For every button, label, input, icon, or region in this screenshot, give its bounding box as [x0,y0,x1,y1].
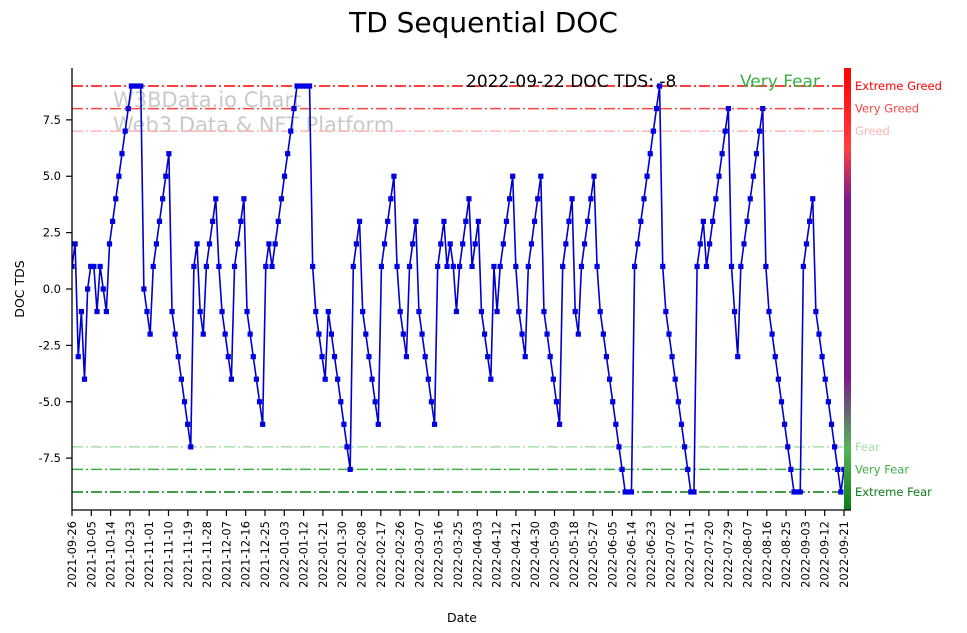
series-point [479,309,484,314]
series-point [838,489,843,494]
series-point [388,196,393,201]
series-point [363,332,368,337]
series-point [601,332,606,337]
watermark: W3BData.io Chart Web3 Data & NFT Platfor… [113,88,394,137]
series-point [476,219,481,224]
series-point [691,489,696,494]
series-point [804,241,809,246]
series-point [704,264,709,269]
series-point [441,219,446,224]
series-point [485,354,490,359]
series-point [829,422,834,427]
x-tick-label: 2022-03-07 [412,521,426,588]
series-point [748,196,753,201]
series-point [482,332,487,337]
series-point [251,354,256,359]
series-point [376,422,381,427]
series-point [238,219,243,224]
series-point [523,354,528,359]
series-point [707,241,712,246]
x-tick-label: 2022-07-20 [702,521,716,588]
series-point [469,264,474,269]
x-tick-label: 2022-05-27 [586,521,600,588]
x-tick-label: 2022-02-26 [393,521,407,588]
series-point [760,106,765,111]
x-tick-label: 2022-07-11 [683,521,697,588]
series-point [726,106,731,111]
series-point [526,264,531,269]
series-line [72,86,844,492]
series-point [563,241,568,246]
series-point [313,309,318,314]
series-point [116,174,121,179]
series-point [660,264,665,269]
series-point [157,219,162,224]
series-point [79,309,84,314]
series-point [101,286,106,291]
x-axis-ticks: 2021-09-262021-10-052021-10-142021-10-23… [65,510,851,588]
series-point [332,354,337,359]
y-tick-label: 2.5 [43,226,61,240]
series-point [648,151,653,156]
series-point [435,264,440,269]
series-point [98,264,103,269]
series-point [782,422,787,427]
x-tick-label: 2021-12-07 [219,521,233,588]
series-point [716,174,721,179]
y-tick-label: -7.5 [39,451,61,465]
series-point [823,377,828,382]
series-point [513,264,518,269]
series-point [607,377,612,382]
x-tick-label: 2022-03-16 [432,521,446,588]
series-point [585,219,590,224]
series-point [613,422,618,427]
threshold-label-very-greed: Very Greed [855,102,919,116]
series-point [569,196,574,201]
series-point [329,332,334,337]
series-point [466,196,471,201]
series-point [757,129,762,134]
series-point [494,309,499,314]
series-point [257,399,262,404]
series-point [288,129,293,134]
series-point [735,354,740,359]
series-point [94,309,99,314]
series-point [123,129,128,134]
td-sequential-chart: TD Sequential DOC W3BData.io Chart Web3 … [0,0,967,633]
threshold-label-fear: Fear [855,440,880,454]
series-point [532,219,537,224]
series-point [398,309,403,314]
series-point [682,444,687,449]
x-tick-label: 2022-05-18 [567,521,581,588]
x-tick-label: 2022-09-03 [798,521,812,588]
series-point [91,264,96,269]
threshold-label-extreme-fear: Extreme Fear [855,485,932,499]
x-tick-label: 2021-09-26 [65,521,79,588]
series-point [554,399,559,404]
series-point [201,332,206,337]
x-tick-label: 2022-06-14 [625,521,639,588]
series-point [360,309,365,314]
series-point [770,332,775,337]
annotation-mood: Very Fear [740,72,820,92]
series-point [541,309,546,314]
series-point [773,354,778,359]
x-tick-label: 2022-05-09 [548,521,562,588]
series-point [410,241,415,246]
series-point [241,196,246,201]
sentiment-spine [844,68,851,510]
y-tick-label: -5.0 [39,395,61,409]
series-point [85,286,90,291]
series-point [148,332,153,337]
series-point [219,309,224,314]
series-point [560,264,565,269]
x-tick-label: 2021-12-25 [258,521,272,588]
x-tick-label: 2022-07-29 [721,521,735,588]
x-tick-label: 2022-04-30 [528,521,542,588]
series-point [644,174,649,179]
x-tick-label: 2022-02-08 [355,521,369,588]
series-point [776,377,781,382]
x-tick-label: 2022-04-12 [490,521,504,588]
series-point [401,332,406,337]
series-point [519,332,524,337]
threshold-label-very-fear: Very Fear [855,462,909,476]
series-point [591,174,596,179]
series-point [798,489,803,494]
series-point [538,174,543,179]
series-point [373,399,378,404]
series-point [419,332,424,337]
series-point [801,264,806,269]
series-point [498,264,503,269]
series-point [666,332,671,337]
series-point [701,219,706,224]
series-point [504,219,509,224]
x-tick-label: 2022-06-05 [605,521,619,588]
x-tick-label: 2022-02-17 [374,521,388,588]
series-point [457,264,462,269]
y-tick-label: 0.0 [43,282,61,296]
series-point [163,174,168,179]
series-point [551,377,556,382]
series-point [695,264,700,269]
x-tick-label: 2022-03-25 [451,521,465,588]
x-tick-label: 2021-11-28 [200,521,214,588]
series-point [282,174,287,179]
series-point [582,241,587,246]
series-point [369,377,374,382]
watermark-line-2: Web3 Data & NFT Platform [113,113,394,137]
series-point [810,196,815,201]
series-point [244,309,249,314]
series-point [357,219,362,224]
series-point [351,264,356,269]
series-point [413,219,418,224]
series-point [738,264,743,269]
series-point [279,196,284,201]
x-tick-label: 2022-01-21 [316,521,330,588]
series-point [188,444,193,449]
series-point [635,241,640,246]
series-point [154,241,159,246]
series-point [248,332,253,337]
series-point [616,444,621,449]
series-point [235,241,240,246]
series-point [813,309,818,314]
x-tick-label: 2022-01-03 [277,521,291,588]
series-point [260,422,265,427]
series-point [763,264,768,269]
series-point [594,264,599,269]
x-tick-label: 2021-11-19 [181,521,195,588]
series-point [473,241,478,246]
series-point [229,377,234,382]
series-point [516,309,521,314]
series-point [566,219,571,224]
series-point [307,83,312,88]
x-tick-label: 2022-08-16 [760,521,774,588]
series-point [535,196,540,201]
series-point [348,467,353,472]
series-point [576,332,581,337]
plot-area: W3BData.io Chart Web3 Data & NFT Platfor… [0,0,967,633]
series-point [323,377,328,382]
series-point [663,309,668,314]
x-tick-label: 2022-04-03 [470,521,484,588]
series-point [557,422,562,427]
x-axis-label: Date [447,610,477,625]
y-tick-label: 5.0 [43,169,61,183]
series-point [820,354,825,359]
series-point [169,309,174,314]
series-point [588,196,593,201]
x-tick-label: 2022-01-30 [335,521,349,588]
series-point [207,241,212,246]
series-point [182,399,187,404]
series-point [185,422,190,427]
series-point [510,174,515,179]
series-point [273,241,278,246]
series-point [454,309,459,314]
series-point [444,264,449,269]
series-point [276,219,281,224]
series-point [379,264,384,269]
x-tick-label: 2022-08-25 [779,521,793,588]
series-point [723,129,728,134]
series-point [194,241,199,246]
series-point [144,309,149,314]
series-point [82,377,87,382]
x-tick-label: 2021-12-16 [239,521,253,588]
x-tick-label: 2022-04-21 [509,521,523,588]
series-point [488,377,493,382]
series-point [104,309,109,314]
series-point [263,264,268,269]
series-point [698,241,703,246]
series-point [751,174,756,179]
threshold-labels: Extreme GreedVery GreedGreedFearVery Fea… [855,79,942,499]
series-point [310,264,315,269]
series-point [226,354,231,359]
series-point [138,83,143,88]
series-point [179,377,184,382]
series-point [641,196,646,201]
series-point [291,106,296,111]
series-point [651,129,656,134]
series-point [76,354,81,359]
series-point [344,444,349,449]
series-point [807,219,812,224]
series-point [460,241,465,246]
x-tick-label: 2022-06-23 [644,521,658,588]
series-point [391,174,396,179]
x-tick-label: 2021-11-10 [162,521,176,588]
series-point [544,332,549,337]
series-point [741,241,746,246]
series-point [176,354,181,359]
x-tick-label: 2021-10-14 [104,521,118,588]
series-point [198,309,203,314]
series-point [451,264,456,269]
series-point [394,264,399,269]
series-point [629,489,634,494]
series-point [654,106,659,111]
series-point [429,399,434,404]
series-point [119,151,124,156]
y-tick-label: 7.5 [43,113,61,127]
series-point [254,377,259,382]
series-point [754,151,759,156]
series-point [335,377,340,382]
series-point [632,264,637,269]
series-point [166,151,171,156]
series-point [598,309,603,314]
y-axis-ticks: -7.5-5.0-2.50.02.55.07.5 [39,113,72,465]
series-point [507,196,512,201]
x-tick-label: 2021-11-01 [142,521,156,588]
annotation-text: 2022-09-22 DOC TDS: -8 [466,72,676,92]
series-point [779,399,784,404]
series-point [404,354,409,359]
series-point [210,219,215,224]
series-point [73,241,78,246]
series-point [366,354,371,359]
series-point [416,309,421,314]
series-point [266,241,271,246]
series-point [285,151,290,156]
y-axis-label: DOC TDS [12,260,27,317]
series-point [426,377,431,382]
series-point [438,241,443,246]
series-point [835,467,840,472]
series-point [710,219,715,224]
series-point [423,354,428,359]
series-point [126,106,131,111]
series-point [213,196,218,201]
y-tick-label: -2.5 [39,338,61,352]
series-point [679,422,684,427]
series-point [432,422,437,427]
series-point [729,264,734,269]
series-point [326,309,331,314]
x-tick-label: 2022-07-02 [663,521,677,588]
series-point [232,264,237,269]
series-point [788,467,793,472]
series-point [579,264,584,269]
series-point [204,264,209,269]
annotation: 2022-09-22 DOC TDS: -8 Very Fear [466,72,820,92]
series-point [673,377,678,382]
series-point [463,219,468,224]
series-point [670,354,675,359]
threshold-label-extreme-greed: Extreme Greed [855,79,942,93]
series-point [832,444,837,449]
x-tick-label: 2022-09-21 [837,521,851,588]
series-point [223,332,228,337]
series-point [341,422,346,427]
series-point [151,264,156,269]
series-point [638,219,643,224]
series-point [319,354,324,359]
series-point [610,399,615,404]
series-point [676,399,681,404]
series-point [816,332,821,337]
series-point [604,354,609,359]
series-point [216,264,221,269]
series-point [529,241,534,246]
series-point [173,332,178,337]
series-point [766,309,771,314]
series-point [448,241,453,246]
data-series-doc-tds [69,83,846,494]
x-tick-label: 2022-01-12 [297,521,311,588]
series-point [732,309,737,314]
series-point [501,241,506,246]
series-point [338,399,343,404]
series-point [191,264,196,269]
series-point [713,196,718,201]
series-point [619,467,624,472]
series-point [407,264,412,269]
series-point [382,241,387,246]
series-point [491,264,496,269]
x-tick-label: 2021-10-05 [84,521,98,588]
series-point [110,219,115,224]
series-point [354,241,359,246]
series-point [269,264,274,269]
series-point [113,196,118,201]
series-point [141,286,146,291]
series-point [160,196,165,201]
series-point [745,219,750,224]
series-point [316,332,321,337]
series-point [685,467,690,472]
series-point [785,444,790,449]
series-point [573,309,578,314]
series-point [720,151,725,156]
x-tick-label: 2021-10-23 [123,521,137,588]
x-tick-label: 2022-09-12 [818,521,832,588]
series-point [548,354,553,359]
threshold-label-greed: Greed [855,124,890,138]
series-point [385,219,390,224]
series-point [826,399,831,404]
series-point [107,241,112,246]
